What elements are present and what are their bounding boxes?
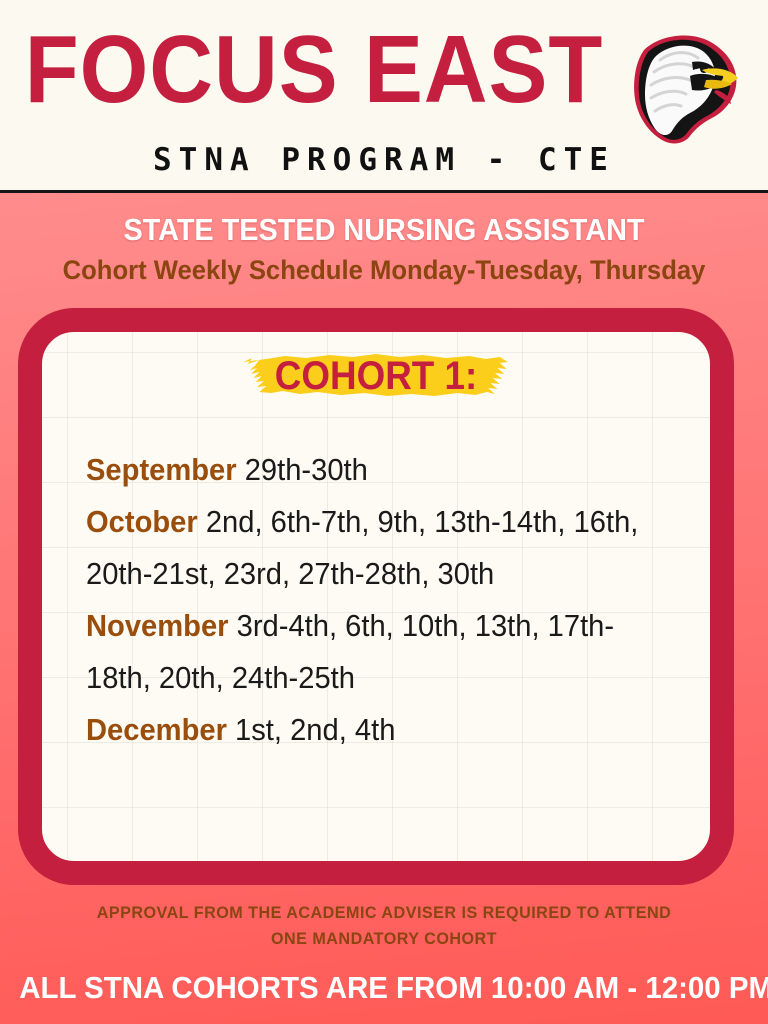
body-area: STATE TESTED NURSING ASSISTANT Cohort We… xyxy=(0,193,768,1024)
schedule-list: September 29th-30th October 2nd, 6th-7th… xyxy=(86,444,696,756)
cohort-label: COHORT 1: xyxy=(275,350,477,402)
time-banner: ALL STNA COHORTS ARE FROM 10:00 AM - 12:… xyxy=(19,968,749,1008)
schedule-row: December 1st, 2nd, 4th xyxy=(86,704,659,756)
page-title: FOCUS EAST xyxy=(25,16,595,124)
approval-note-line-2: ONE MANDATORY COHORT xyxy=(19,926,749,952)
schedule-month: November xyxy=(86,608,237,643)
approval-note-line-1: APPROVAL FROM THE ACADEMIC ADVISER IS RE… xyxy=(19,900,749,926)
header-band: FOCUS EAST STNA PROGRAM - CTE xyxy=(0,0,768,193)
schedule-card: COHORT 1: September 29th-30th October 2n… xyxy=(18,308,734,885)
approval-note: APPROVAL FROM THE ACADEMIC ADVISER IS RE… xyxy=(19,900,749,952)
schedule-dates: 29th-30th xyxy=(245,452,368,487)
schedule-month: September xyxy=(86,452,245,487)
cohort-highlight-mark: COHORT 1: xyxy=(236,346,516,408)
hero-headline: STATE TESTED NURSING ASSISTANT xyxy=(27,211,741,249)
eagle-head-icon xyxy=(620,32,744,148)
schedule-month: December xyxy=(86,712,235,747)
schedule-row: September 29th-30th xyxy=(86,444,659,496)
schedule-row: October 2nd, 6th-7th, 9th, 13th-14th, 16… xyxy=(86,496,659,600)
poster-flyer: FOCUS EAST STNA PROGRAM - CTE xyxy=(0,0,768,1024)
schedule-month: October xyxy=(86,504,206,539)
cohort-heading: COHORT 1: xyxy=(42,346,710,408)
hero-subheadline: Cohort Weekly Schedule Monday-Tuesday, T… xyxy=(19,253,749,287)
schedule-dates: 1st, 2nd, 4th xyxy=(235,712,395,747)
schedule-row: November 3rd-4th, 6th, 10th, 13th, 17th-… xyxy=(86,600,659,704)
